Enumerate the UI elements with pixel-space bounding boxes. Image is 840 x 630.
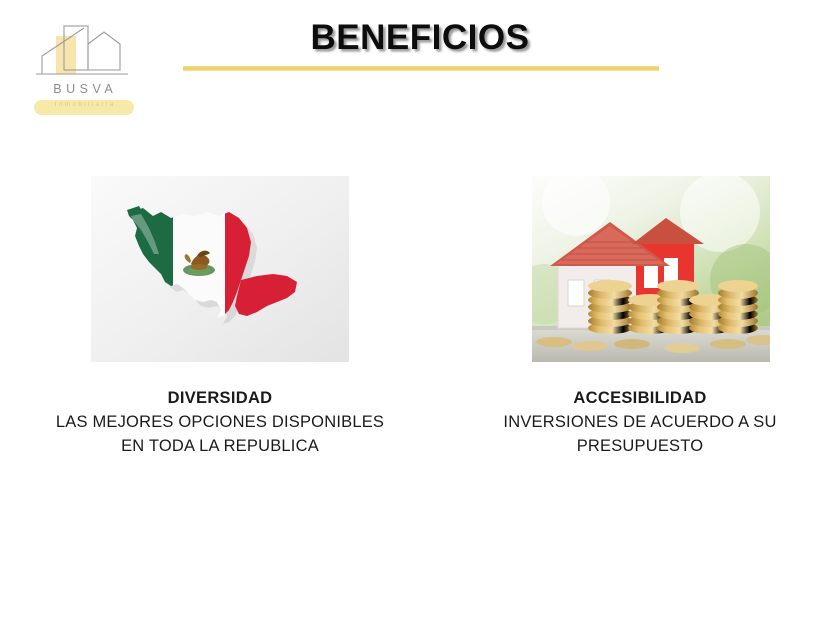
logo-wordmark: BUSVA bbox=[28, 82, 138, 96]
benefit-heading: ACCESIBILIDAD bbox=[440, 386, 840, 410]
logo-tagline: Inmobiliaria bbox=[34, 101, 134, 108]
benefit-body-line-2: PRESUPUESTO bbox=[440, 434, 840, 458]
title-underline-rule bbox=[183, 66, 659, 71]
house-and-coins-image bbox=[532, 176, 770, 362]
benefit-card-accesibilidad: ACCESIBILIDAD INVERSIONES DE ACUERDO A S… bbox=[440, 176, 840, 458]
benefit-body-line-1: LAS MEJORES OPCIONES DISPONIBLES bbox=[0, 410, 440, 434]
mexico-map-flag-image bbox=[91, 176, 349, 362]
benefit-caption: ACCESIBILIDAD INVERSIONES DE ACUERDO A S… bbox=[440, 386, 840, 458]
benefit-body-line-2: EN TODA LA REPUBLICA bbox=[0, 434, 440, 458]
logo-tagline-highlight: Inmobiliaria bbox=[34, 100, 134, 115]
slide-beneficios: BUSVA Inmobiliaria BENEFICIOS bbox=[0, 0, 840, 630]
benefit-body-line-1: INVERSIONES DE ACUERDO A SU bbox=[440, 410, 840, 434]
benefit-heading: DIVERSIDAD bbox=[0, 386, 440, 410]
page-title: BENEFICIOS bbox=[0, 18, 840, 58]
benefit-caption: DIVERSIDAD LAS MEJORES OPCIONES DISPONIB… bbox=[0, 386, 440, 458]
benefit-card-diversidad: DIVERSIDAD LAS MEJORES OPCIONES DISPONIB… bbox=[0, 176, 440, 458]
